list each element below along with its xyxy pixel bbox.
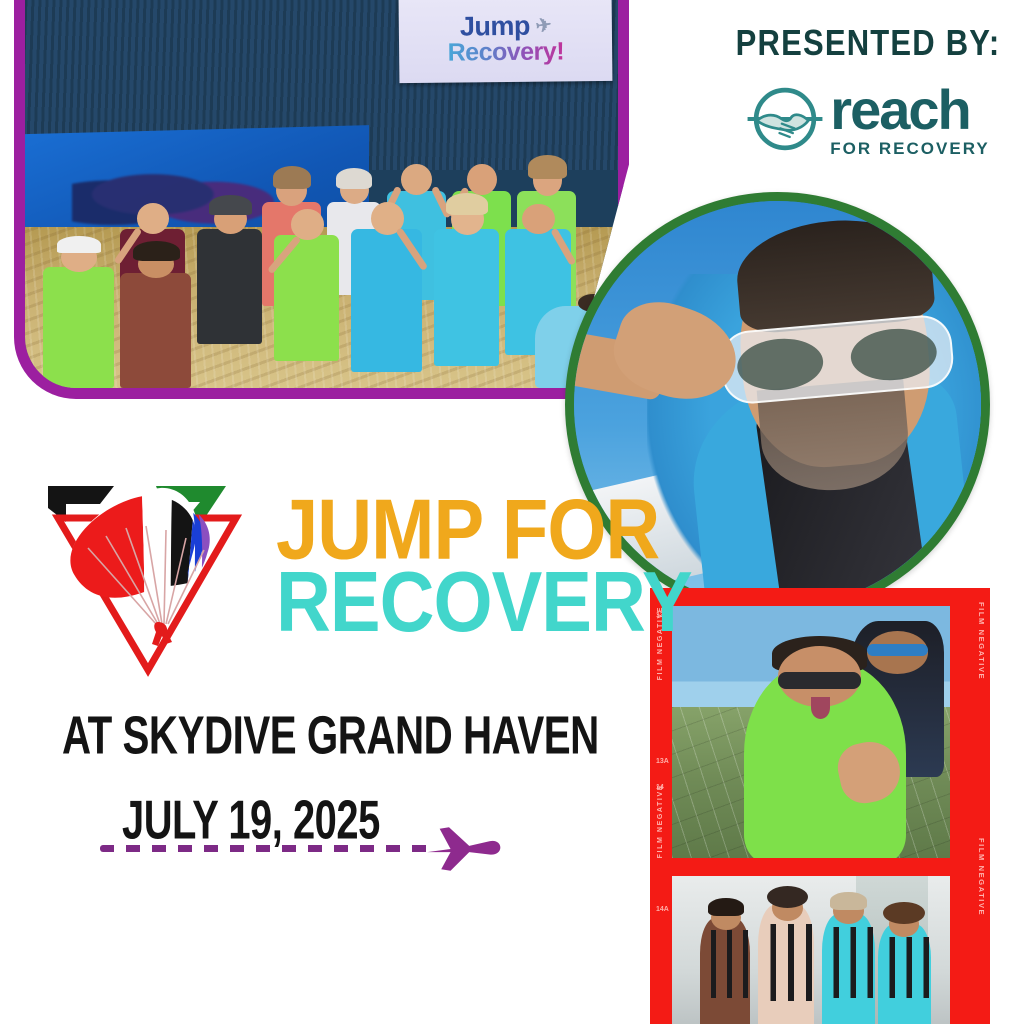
- group-celebration-photo: Jump ✈ Recovery!: [14, 0, 629, 399]
- sponsor-name: reach: [830, 82, 969, 138]
- person-hair: [767, 886, 809, 908]
- handshake-circle-icon: [746, 80, 824, 158]
- person: [351, 229, 422, 371]
- film-edge-label: FILM NEGATIVE: [977, 838, 986, 916]
- harness: [822, 927, 875, 997]
- date-row: JULY 19, 2025: [122, 789, 600, 837]
- airplane-icon: ✈: [534, 16, 552, 37]
- airplane-icon: [424, 821, 502, 877]
- harness-group-photo: [672, 876, 950, 1024]
- harness: [758, 924, 814, 1001]
- logo-row: JUMP FOR RECOVERY: [40, 478, 600, 679]
- sponsor-text: reach FOR RECOVERY: [830, 82, 989, 157]
- tandem-jump-photo: [672, 606, 950, 858]
- person: [274, 235, 339, 361]
- film-edge-label: FILM NEGATIVE: [977, 602, 986, 680]
- date-text: JULY 19, 2025: [122, 789, 576, 851]
- person-hair: [830, 892, 866, 910]
- harness: [700, 930, 750, 997]
- title-line-2: RECOVERY: [276, 566, 692, 639]
- person-hair: [883, 902, 925, 924]
- title-text: JUMP FOR RECOVERY: [276, 496, 692, 632]
- presented-by-block: PRESENTED BY: reach FOR RECOVERY: [725, 22, 1011, 158]
- title-block: JUMP FOR RECOVERY AT SKYDIVE GRAND HAVEN…: [40, 478, 600, 837]
- airplane-trail: [100, 845, 430, 852]
- group-photo-image: Jump ✈ Recovery!: [25, 0, 618, 388]
- banner-line-2: Recovery!: [447, 40, 564, 66]
- instructor-sunglasses: [867, 644, 928, 657]
- presented-by-label: PRESENTED BY:: [725, 22, 1011, 64]
- banner-line-1: Jump ✈: [459, 13, 551, 41]
- person: [43, 267, 114, 388]
- sponsor-logo: reach FOR RECOVERY: [725, 80, 1011, 158]
- jumper-sunglasses: [778, 672, 861, 690]
- frame-mark: 14: [656, 784, 664, 791]
- banner-line1-text: Jump: [459, 13, 529, 41]
- person: [197, 229, 262, 344]
- harness: [878, 937, 931, 998]
- sponsor-tagline: FOR RECOVERY: [830, 140, 989, 157]
- event-poster: Jump ✈ Recovery!: [0, 0, 1024, 1024]
- person-hair: [708, 898, 744, 916]
- person: [120, 273, 191, 388]
- film-edge-label: FILM NEGATIVE: [657, 784, 664, 858]
- jump-recovery-banner: Jump ✈ Recovery!: [398, 0, 612, 83]
- film-strip: FILM NEGATIVE FILM NEGATIVE FILM NEGATIV…: [650, 588, 990, 1024]
- frame-mark: 13A: [656, 758, 669, 765]
- crowd: [25, 114, 618, 388]
- frame-mark: 14A: [656, 906, 669, 913]
- person: [434, 229, 499, 366]
- parachute-triangle-logo-icon: [40, 474, 272, 679]
- venue-text: AT SKYDIVE GRAND HAVEN: [62, 705, 578, 766]
